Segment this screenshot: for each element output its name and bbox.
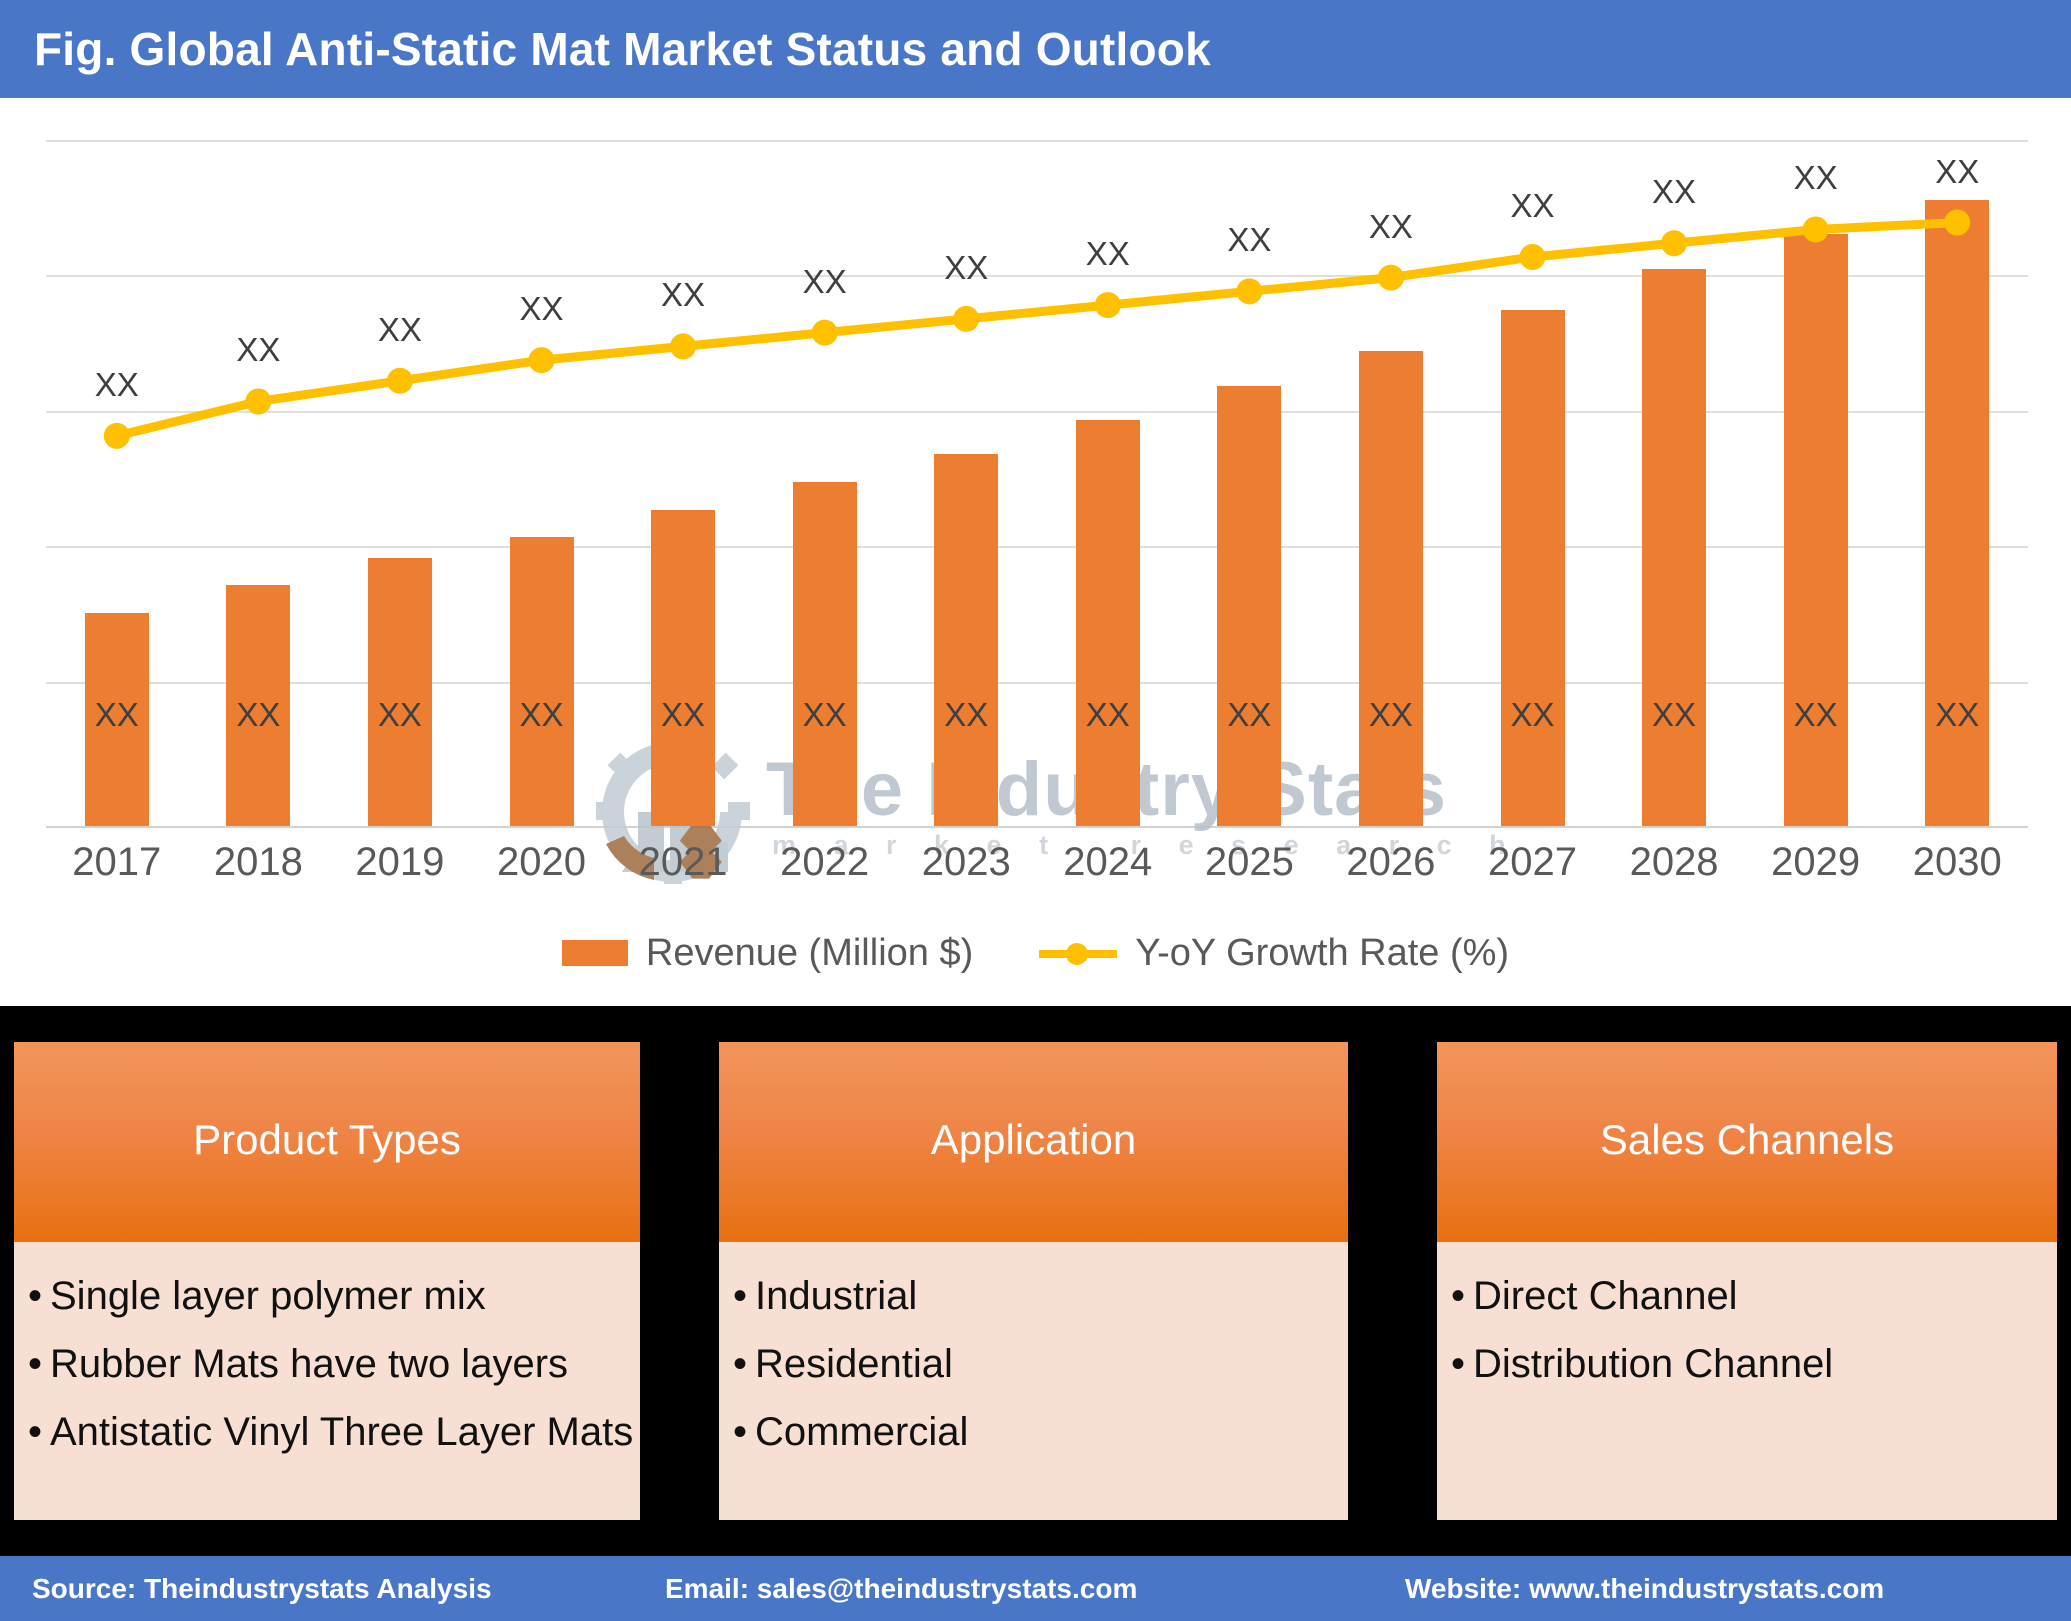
line-marker-2020: [529, 347, 555, 373]
bullet-dot-icon: •: [1451, 1344, 1473, 1384]
x-tick-2030: 2030: [1913, 840, 2002, 885]
line-value-label: XX: [1935, 153, 1979, 191]
legend-item-growth-rate[interactable]: Y-oY Growth Rate (%): [1039, 932, 1509, 975]
bullet-item: •Residential: [733, 1344, 1348, 1384]
line-marker-2028: [1661, 230, 1687, 256]
line-value-label: XX: [95, 366, 139, 404]
segment-box-sales-channels: Sales Channels •Direct Channel•Distribut…: [1437, 1042, 2057, 1520]
bullet-item: •Antistatic Vinyl Three Layer Mats: [28, 1412, 640, 1452]
bullet-dot-icon: •: [733, 1344, 755, 1384]
page-title: Fig. Global Anti-Static Mat Market Statu…: [34, 22, 1211, 76]
legend-label: Revenue (Million $): [646, 932, 973, 975]
segment-box-product-types: Product Types •Single layer polymer mix•…: [14, 1042, 640, 1520]
line-marker-2025: [1236, 278, 1262, 304]
segment-box-header: Application: [719, 1042, 1348, 1242]
x-tick-2027: 2027: [1488, 840, 1577, 885]
x-tick-2018: 2018: [214, 840, 303, 885]
x-tick-2028: 2028: [1630, 840, 1719, 885]
segment-box-title: Application: [719, 1116, 1348, 1164]
x-axis-labels: 2017201820192020202120222023202420252026…: [46, 840, 2028, 898]
line-value-label: XX: [1794, 159, 1838, 197]
footer-website[interactable]: Website: www.theindustrystats.com: [1405, 1573, 1884, 1605]
chart-legend: Revenue (Million $) Y-oY Growth Rate (%): [0, 918, 2071, 988]
legend-label: Y-oY Growth Rate (%): [1135, 932, 1509, 975]
x-tick-2023: 2023: [922, 840, 1011, 885]
x-tick-2021: 2021: [639, 840, 728, 885]
x-tick-2025: 2025: [1205, 840, 1294, 885]
bullet-label: Rubber Mats have two layers: [50, 1344, 568, 1384]
line-value-label: XX: [236, 331, 280, 369]
bullet-item: •Single layer polymer mix: [28, 1276, 640, 1316]
segment-box-title: Product Types: [14, 1116, 640, 1164]
line-value-label: XX: [378, 311, 422, 349]
x-tick-2029: 2029: [1771, 840, 1860, 885]
line-value-label: XX: [803, 263, 847, 301]
bullet-item: •Distribution Channel: [1451, 1344, 2057, 1384]
chart-panel: The Industry Stats m a r k e t r e s e a…: [0, 98, 2071, 1006]
segment-box-body: •Industrial•Residential•Commercial: [719, 1242, 1348, 1520]
footer-source: Source: Theindustrystats Analysis: [32, 1573, 492, 1605]
x-tick-2022: 2022: [780, 840, 869, 885]
segment-box-body: •Single layer polymer mix•Rubber Mats ha…: [14, 1242, 640, 1520]
growth-rate-line-series: [46, 140, 2028, 828]
legend-item-revenue[interactable]: Revenue (Million $): [562, 932, 973, 975]
line-value-label: XX: [519, 290, 563, 328]
bullet-label: Direct Channel: [1473, 1276, 1738, 1316]
line-value-label: XX: [661, 276, 705, 314]
line-marker-2030: [1944, 210, 1970, 236]
x-tick-2024: 2024: [1063, 840, 1152, 885]
footer-bar: Source: Theindustrystats Analysis Email:…: [0, 1556, 2071, 1621]
bullet-item: •Commercial: [733, 1412, 1348, 1452]
x-tick-2017: 2017: [72, 840, 161, 885]
legend-line-dot-icon: [1039, 940, 1117, 966]
x-tick-2020: 2020: [497, 840, 586, 885]
line-marker-2026: [1378, 265, 1404, 291]
line-marker-2023: [953, 306, 979, 332]
bullet-label: Distribution Channel: [1473, 1344, 1833, 1384]
infographic-page: Fig. Global Anti-Static Mat Market Statu…: [0, 0, 2071, 1621]
line-value-label: XX: [1510, 187, 1554, 225]
line-value-label: XX: [1652, 173, 1696, 211]
bullet-dot-icon: •: [28, 1344, 50, 1384]
line-marker-2022: [812, 320, 838, 346]
segment-box-body: •Direct Channel•Distribution Channel: [1437, 1242, 2057, 1520]
bullet-label: Industrial: [755, 1276, 917, 1316]
line-marker-2021: [670, 333, 696, 359]
bullet-dot-icon: •: [733, 1412, 755, 1452]
bullet-item: •Industrial: [733, 1276, 1348, 1316]
legend-swatch-square-icon: [562, 940, 628, 966]
bullet-label: Single layer polymer mix: [50, 1276, 486, 1316]
x-tick-2019: 2019: [355, 840, 444, 885]
bullet-item: •Rubber Mats have two layers: [28, 1344, 640, 1384]
footer-email[interactable]: Email: sales@theindustrystats.com: [665, 1573, 1137, 1605]
bullet-label: Antistatic Vinyl Three Layer Mats: [50, 1412, 633, 1452]
line-marker-2019: [387, 368, 413, 394]
segment-box-application: Application •Industrial•Residential•Comm…: [719, 1042, 1348, 1520]
line-marker-2017: [104, 423, 130, 449]
line-value-label: XX: [944, 249, 988, 287]
line-value-label: XX: [1086, 235, 1130, 273]
bullet-dot-icon: •: [28, 1412, 50, 1452]
bullet-label: Residential: [755, 1344, 953, 1384]
bullet-dot-icon: •: [733, 1276, 755, 1316]
segment-boxes: Product Types •Single layer polymer mix•…: [0, 1006, 2071, 1550]
line-marker-2029: [1803, 216, 1829, 242]
segment-box-header: Sales Channels: [1437, 1042, 2057, 1242]
bullet-dot-icon: •: [1451, 1276, 1473, 1316]
line-value-label: XX: [1227, 221, 1271, 259]
header-bar: Fig. Global Anti-Static Mat Market Statu…: [0, 0, 2071, 98]
line-marker-2027: [1520, 244, 1546, 270]
line-value-label: XX: [1369, 208, 1413, 246]
x-tick-2026: 2026: [1346, 840, 1435, 885]
chart-plot-area: The Industry Stats m a r k e t r e s e a…: [46, 140, 2028, 828]
segment-box-header: Product Types: [14, 1042, 640, 1242]
line-marker-2018: [245, 388, 271, 414]
bullet-item: •Direct Channel: [1451, 1276, 2057, 1316]
line-marker-2024: [1095, 292, 1121, 318]
bullet-dot-icon: •: [28, 1276, 50, 1316]
bullet-label: Commercial: [755, 1412, 968, 1452]
segment-box-title: Sales Channels: [1437, 1116, 2057, 1164]
